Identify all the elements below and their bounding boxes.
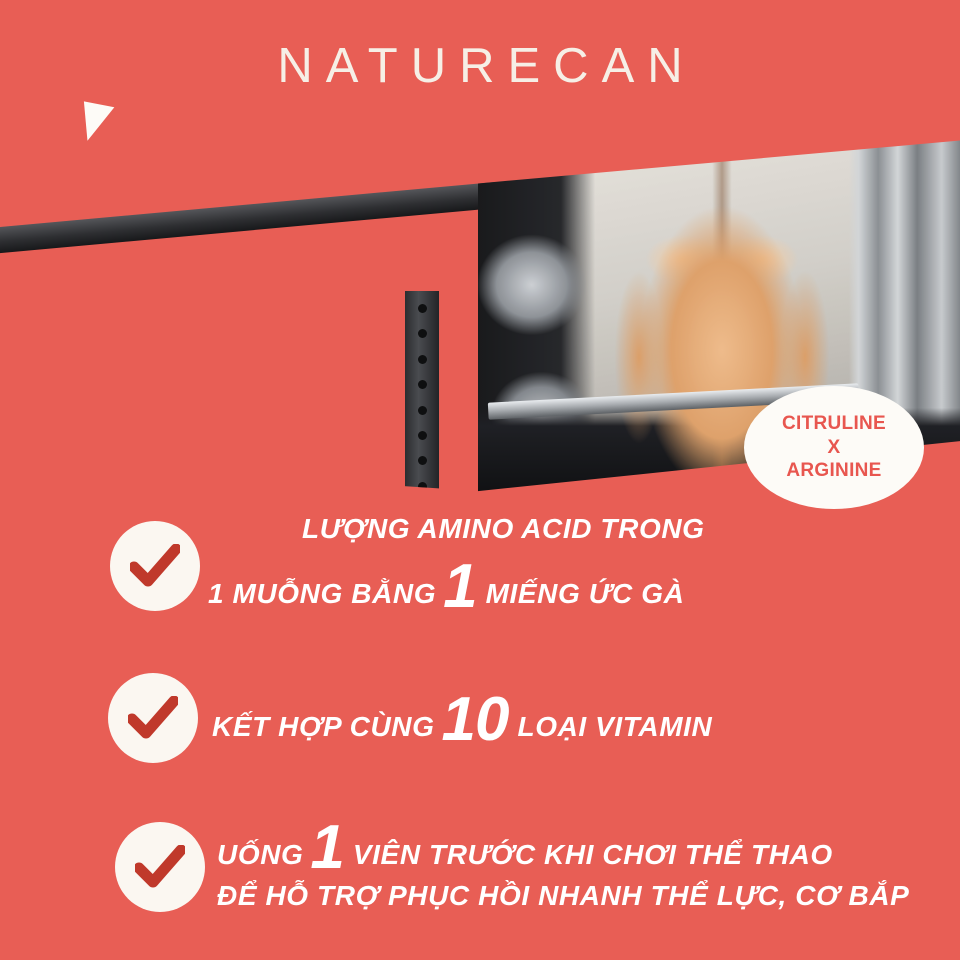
benefit-text-pre: KẾT HỢP CÙNG [212, 708, 435, 747]
benefit-item-amino: LƯỢNG AMINO ACID TRONG 1 MUỖNG BẰNG 1 MI… [110, 518, 686, 613]
benefit-text-post: LOẠI VITAMIN [517, 708, 712, 747]
benefit-line-2: 1 MUỖNG BẰNG 1 MIẾNG ỨC GÀ [208, 557, 684, 614]
benefit-text-post: MIẾNG ỨC GÀ [486, 575, 685, 614]
benefit-line-1: UỐNG 1 VIÊN TRƯỚC KHI CHƠI THỂ THAO [217, 818, 909, 876]
benefit-text-vitamin: KẾT HỢP CÙNG 10 LOẠI VITAMIN [212, 690, 712, 747]
benefit-text-pre: 1 MUỖNG BẰNG [208, 575, 436, 614]
promo-poster: NATURECAN CITRULINE X ARGININE [0, 0, 960, 960]
brand-logo: NATURECAN [0, 38, 960, 94]
benefit-line-1: LƯỢNG AMINO ACID TRONG [302, 510, 778, 549]
check-glyph [135, 845, 185, 889]
benefit-number: 1 [310, 822, 343, 875]
benefit-item-vitamin: KẾT HỢP CÙNG 10 LOẠI VITAMIN [108, 673, 712, 763]
bubble-line-x: X [828, 436, 841, 459]
check-icon [110, 521, 200, 611]
benefit-item-recovery: UỐNG 1 VIÊN TRƯỚC KHI CHƠI THỂ THAO ĐỂ H… [115, 818, 909, 916]
benefit-number: 10 [442, 694, 509, 747]
check-glyph [130, 544, 180, 588]
ingredient-speech-bubble: CITRULINE X ARGININE [744, 386, 924, 509]
benefit-number: 1 [443, 561, 476, 614]
benefit-text-post: VIÊN TRƯỚC KHI CHƠI THỂ THAO [353, 835, 833, 876]
benefit-text-recovery: UỐNG 1 VIÊN TRƯỚC KHI CHƠI THỂ THAO ĐỂ H… [217, 818, 909, 916]
check-icon [115, 822, 205, 912]
bubble-line-arginine: ARGININE [786, 459, 881, 482]
benefit-line-1: KẾT HỢP CÙNG 10 LOẠI VITAMIN [212, 690, 712, 747]
check-icon [108, 673, 198, 763]
bubble-line-citruline: CITRULINE [782, 412, 886, 435]
squat-rack-shape [405, 291, 439, 503]
benefit-text-pre: UỐNG [217, 835, 303, 876]
check-glyph [128, 696, 178, 740]
woman-barbell-squat-photo [0, 138, 494, 503]
benefit-text-amino: LƯỢNG AMINO ACID TRONG 1 MUỖNG BẰNG 1 MI… [210, 516, 686, 611]
